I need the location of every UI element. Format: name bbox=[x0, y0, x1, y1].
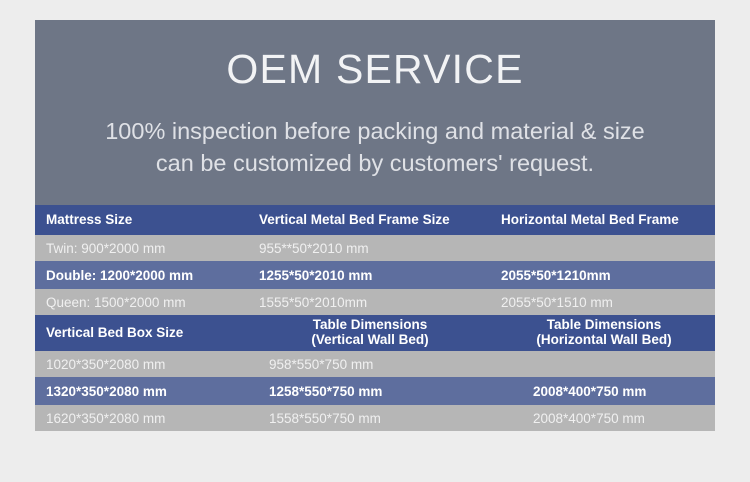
column-header-mattress-size: Mattress Size bbox=[35, 205, 247, 235]
cell-table-dimensions-horizontal bbox=[493, 351, 715, 377]
column-header-vertical-bed-box-size-label: Vertical Bed Box Size bbox=[46, 326, 247, 341]
table-header-row-mattress: Mattress Size Vertical Metal Bed Frame S… bbox=[35, 205, 715, 235]
cell-horizontal-frame-size bbox=[493, 235, 715, 261]
column-header-table-dimensions-vertical: Table Dimensions (Vertical Wall Bed) bbox=[247, 315, 493, 351]
cell-horizontal-frame-size: 2055*50*1210mm bbox=[493, 261, 715, 289]
specification-table: Mattress Size Vertical Metal Bed Frame S… bbox=[35, 205, 715, 431]
table-row: 1020*350*2080 mm 958*550*750 mm bbox=[35, 351, 715, 377]
cell-table-dimensions-horizontal: 2008*400*750 mm bbox=[493, 377, 715, 405]
cell-mattress-size: Double: 1200*2000 mm bbox=[35, 261, 247, 289]
cell-vertical-frame-size: 1255*50*2010 mm bbox=[247, 261, 493, 289]
cell-mattress-size: Queen: 1500*2000 mm bbox=[35, 289, 247, 315]
hero-subtitle: 100% inspection before packing and mater… bbox=[55, 115, 695, 180]
page-root: OEM SERVICE 100% inspection before packi… bbox=[0, 0, 750, 482]
column-header-vertical-bed-box-size: Vertical Bed Box Size bbox=[35, 315, 247, 351]
column-header-table-dimensions-horizontal-line-1: Table Dimensions bbox=[493, 318, 715, 333]
hero-banner: OEM SERVICE 100% inspection before packi… bbox=[35, 20, 715, 205]
column-header-table-dimensions-horizontal-line-2: (Horizontal Wall Bed) bbox=[493, 333, 715, 348]
table-row: Queen: 1500*2000 mm 1555*50*2010mm 2055*… bbox=[35, 289, 715, 315]
cell-vertical-frame-size: 1555*50*2010mm bbox=[247, 289, 493, 315]
table-row: Double: 1200*2000 mm 1255*50*2010 mm 205… bbox=[35, 261, 715, 289]
table-row: 1620*350*2080 mm 1558*550*750 mm 2008*40… bbox=[35, 405, 715, 431]
table-row: 1320*350*2080 mm 1258*550*750 mm 2008*40… bbox=[35, 377, 715, 405]
cell-horizontal-frame-size: 2055*50*1510 mm bbox=[493, 289, 715, 315]
cell-mattress-size: Twin: 900*2000 mm bbox=[35, 235, 247, 261]
column-header-table-dimensions-vertical-line-1: Table Dimensions bbox=[247, 318, 493, 333]
column-header-horizontal-metal-bed-frame: Horizontal Metal Bed Frame bbox=[493, 205, 715, 235]
cell-bed-box-size: 1020*350*2080 mm bbox=[35, 351, 247, 377]
table-row: Twin: 900*2000 mm 955**50*2010 mm bbox=[35, 235, 715, 261]
hero-subtitle-line-2: can be customized by customers' request. bbox=[55, 147, 695, 179]
cell-bed-box-size: 1620*350*2080 mm bbox=[35, 405, 247, 431]
hero-subtitle-line-1: 100% inspection before packing and mater… bbox=[55, 115, 695, 147]
cell-vertical-frame-size: 955**50*2010 mm bbox=[247, 235, 493, 261]
column-header-table-dimensions-horizontal: Table Dimensions (Horizontal Wall Bed) bbox=[493, 315, 715, 351]
cell-bed-box-size: 1320*350*2080 mm bbox=[35, 377, 247, 405]
page-title: OEM SERVICE bbox=[226, 48, 523, 91]
cell-table-dimensions-vertical: 1258*550*750 mm bbox=[247, 377, 493, 405]
column-header-table-dimensions-vertical-line-2: (Vertical Wall Bed) bbox=[247, 333, 493, 348]
cell-table-dimensions-vertical: 1558*550*750 mm bbox=[247, 405, 493, 431]
cell-table-dimensions-horizontal: 2008*400*750 mm bbox=[493, 405, 715, 431]
column-header-vertical-metal-bed-frame-size: Vertical Metal Bed Frame Size bbox=[247, 205, 493, 235]
cell-table-dimensions-vertical: 958*550*750 mm bbox=[247, 351, 493, 377]
table-header-row-bed-box: Vertical Bed Box Size Table Dimensions (… bbox=[35, 315, 715, 351]
